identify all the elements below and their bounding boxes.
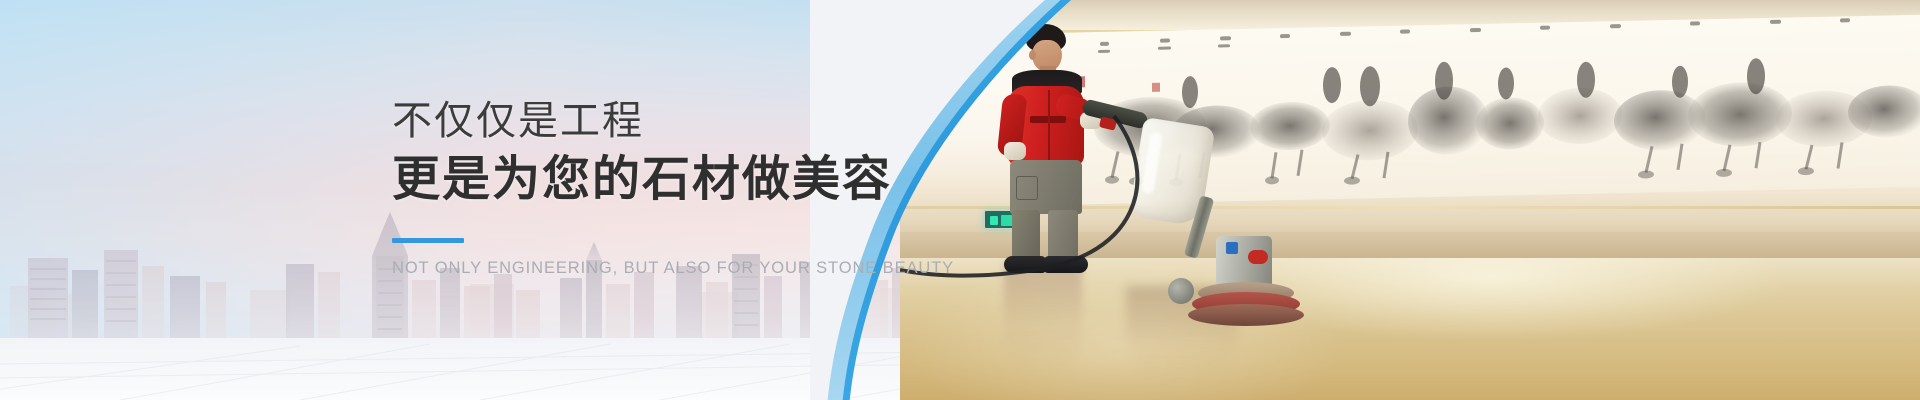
headline-line-2: 更是为您的石材做美容 <box>392 149 1032 211</box>
accent-rule <box>392 238 464 243</box>
headline-line-1: 不仅仅是工程 <box>392 96 1032 147</box>
banner-copy: 不仅仅是工程 更是为您的石材做美容 NOT ONLY ENGINEERING, … <box>392 96 1032 278</box>
subtitle-english: NOT ONLY ENGINEERING, BUT ALSO FOR YOUR … <box>392 259 1032 278</box>
hero-banner: 不仅仅是工程 更是为您的石材做美容 NOT ONLY ENGINEERING, … <box>0 0 1920 400</box>
worker-ear <box>1029 50 1036 60</box>
polisher-disc-lower <box>1188 304 1304 326</box>
stone-floor-polishing-photo <box>900 0 1920 400</box>
